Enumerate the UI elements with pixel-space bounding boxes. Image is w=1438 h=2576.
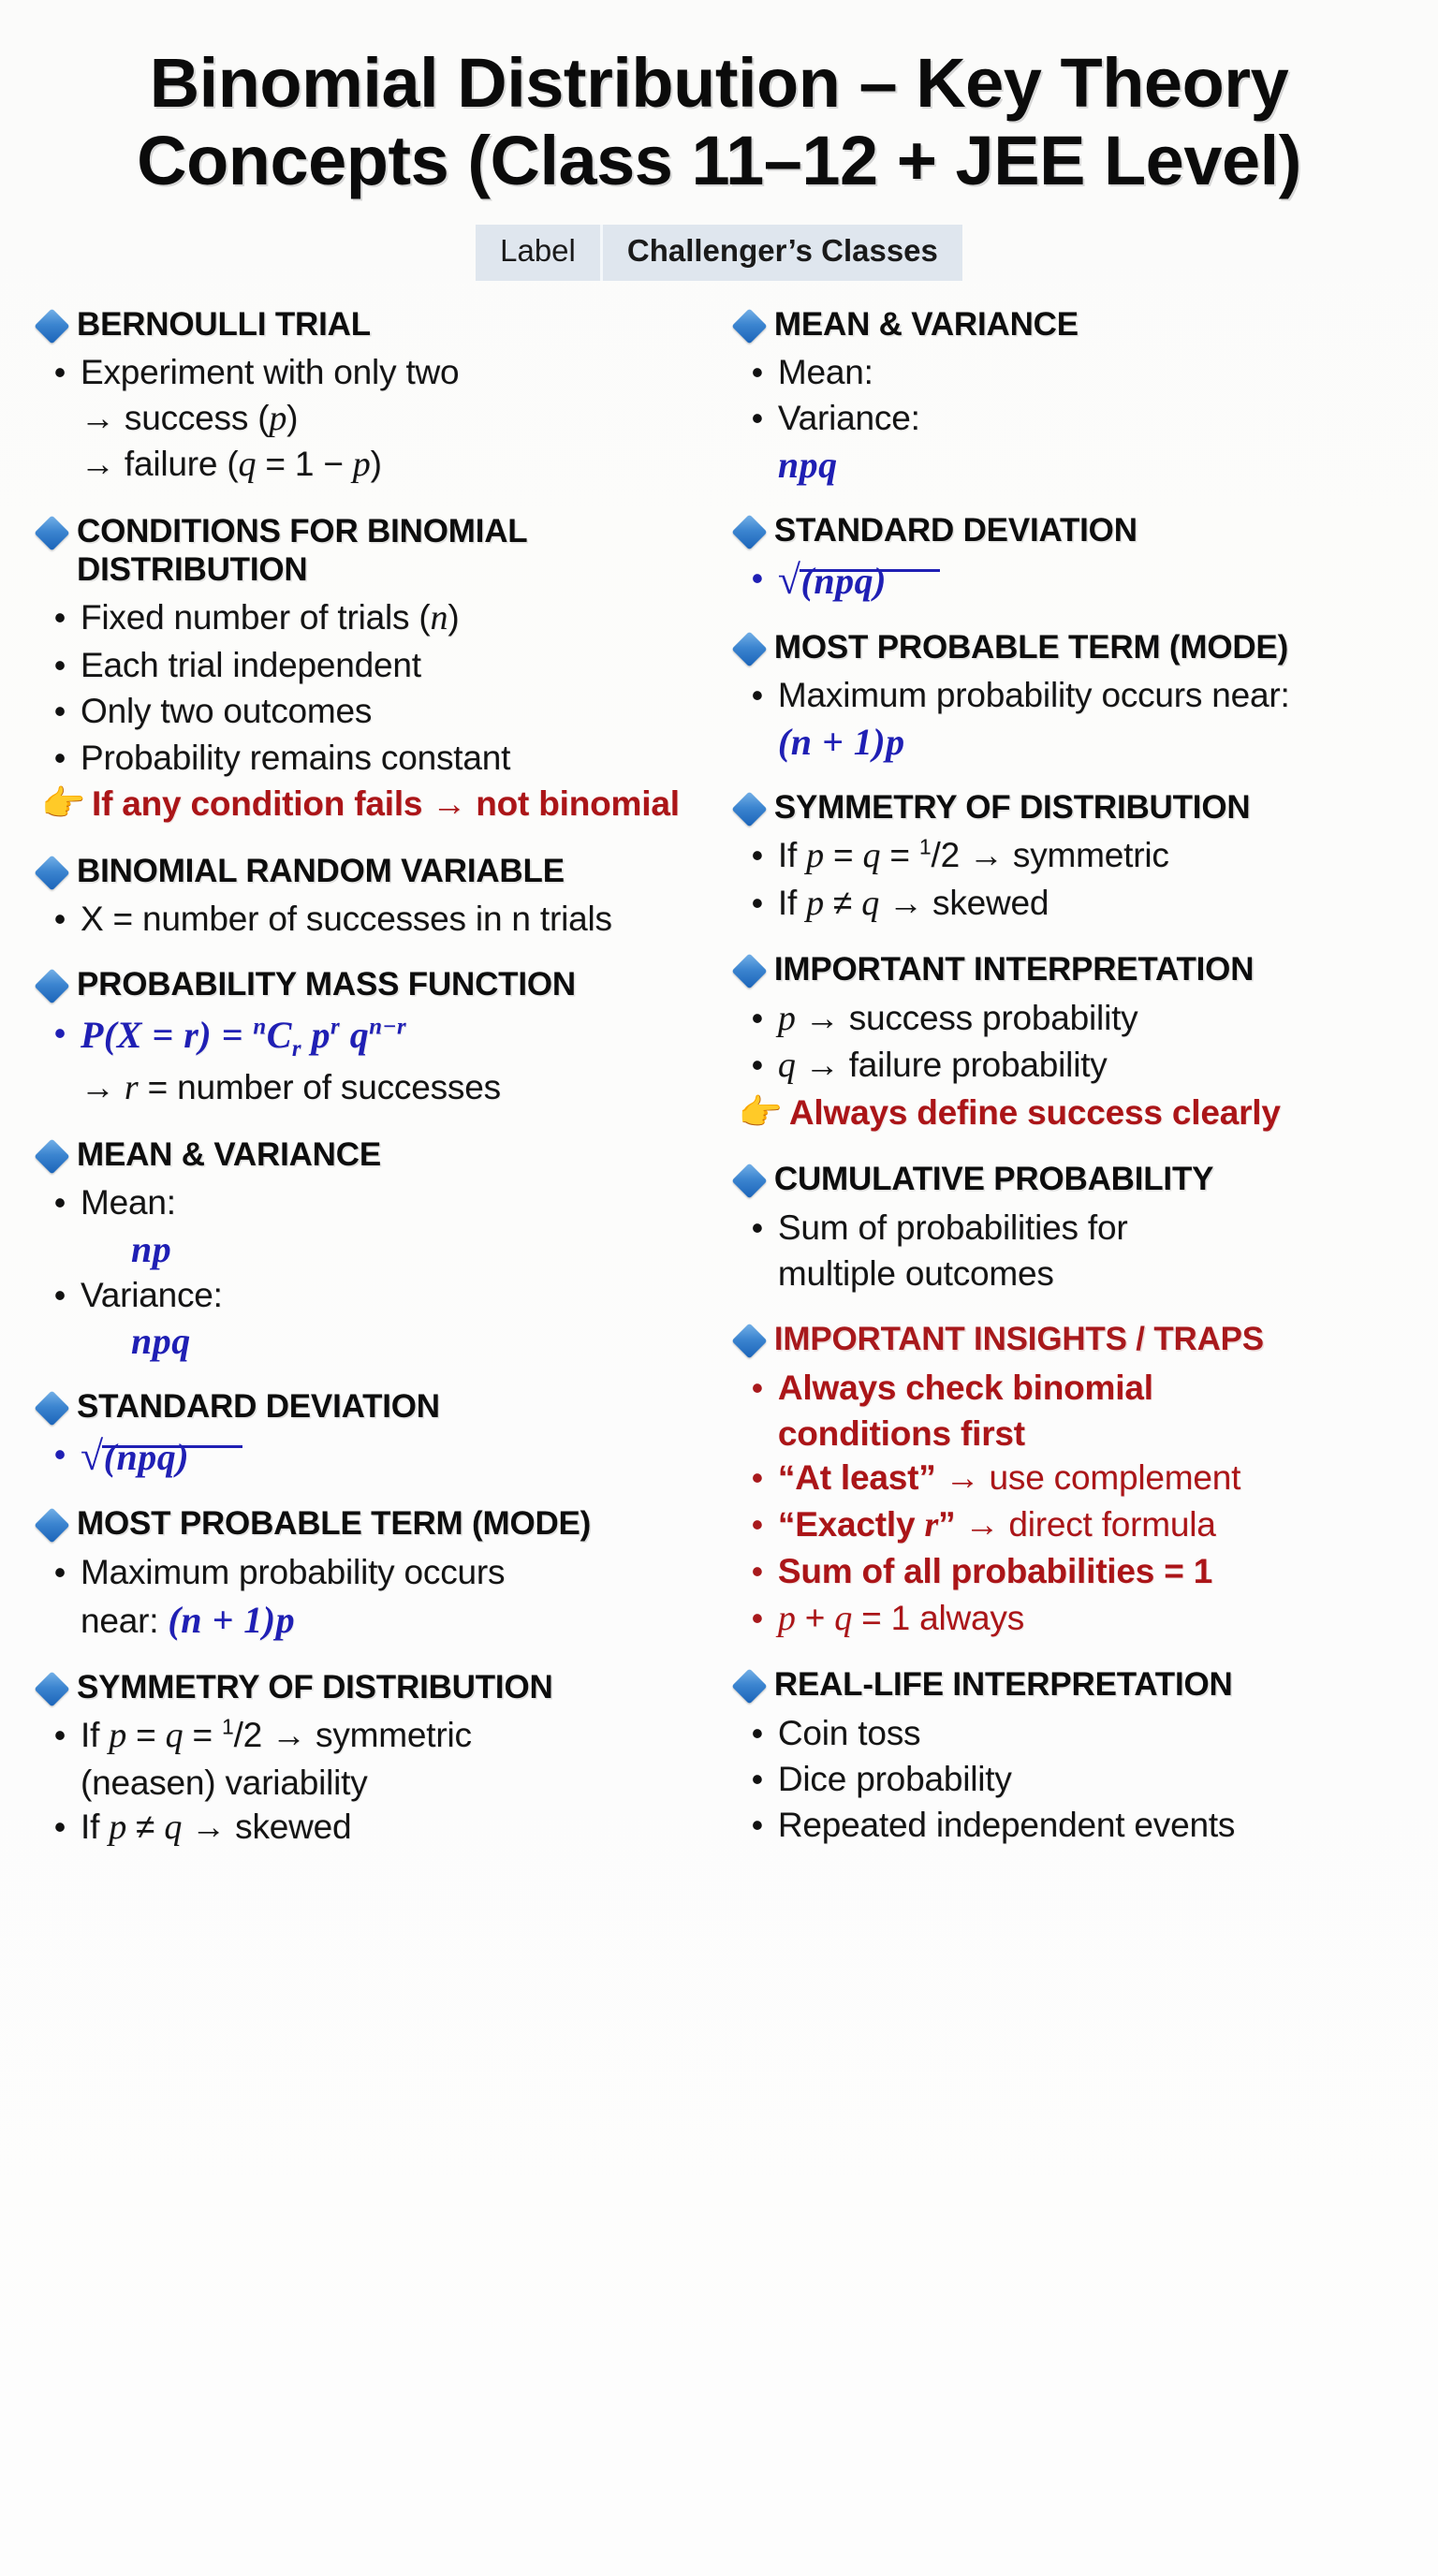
section-header: MOST PROBABLE TERM (MODE) (39, 1504, 711, 1543)
round-bullet-icon: • (39, 1713, 81, 1757)
section-header: MOST PROBABLE TERM (MODE) (737, 628, 1399, 666)
section-probability-mass-function: PROBABILITY MASS FUNCTION • P(X = r) = n… (39, 965, 711, 1111)
section-important-insights-traps: IMPORTANT INSIGHTS / TRAPS • Always chec… (737, 1320, 1399, 1641)
list-item-label: Always check binomial (778, 1366, 1399, 1410)
label-table-cell-label: Label (476, 225, 600, 281)
list-item: • p + q = 1 always (737, 1596, 1399, 1642)
section-header: IMPORTANT INSIGHTS / TRAPS (737, 1320, 1399, 1358)
list-item: • q → failure probability (737, 1043, 1399, 1089)
section-binomial-random-variable: BINOMIAL RANDOM VARIABLE • X = number of… (39, 852, 711, 942)
section-title: IMPORTANT INTERPRETATION (774, 950, 1254, 988)
round-bullet-icon: • (737, 396, 778, 440)
list-item: • If p ≠ q → skewed (39, 1805, 711, 1851)
section-title: SYMMETRY OF DISTRIBUTION (77, 1668, 553, 1706)
blue-diamond-icon (731, 308, 767, 344)
blue-diamond-icon (731, 1669, 767, 1705)
list-item-label: Variance: (81, 1273, 711, 1317)
section-conditions-for-binomial: CONDITIONS FOR BINOMIAL DISTRIBUTION • F… (39, 512, 711, 827)
round-bullet-icon: • (39, 897, 81, 941)
blue-diamond-icon (731, 514, 767, 549)
blue-diamond-icon (731, 1324, 767, 1359)
section-most-probable-term-right: MOST PROBABLE TERM (MODE) • Maximum prob… (737, 628, 1399, 764)
list-item-label: Probability remains constant (81, 736, 711, 780)
round-bullet-icon: • (737, 833, 778, 877)
list-item: • Dice probability (737, 1757, 1399, 1801)
title-line-1: Binomial Distribution – Key Theory (60, 45, 1378, 123)
round-bullet-icon: • (737, 1596, 778, 1640)
section-symmetry-right: SYMMETRY OF DISTRIBUTION • If p = q = 1/… (737, 788, 1399, 927)
right-column: MEAN & VARIANCE • Mean: • Variance: npq … (727, 305, 1399, 1852)
round-bullet-icon: • (737, 1206, 778, 1250)
list-item: • Each trial independent (39, 643, 711, 687)
section-header: STANDARD DEVIATION (39, 1387, 711, 1426)
list-item-label: Maximum probability occurs (81, 1550, 711, 1594)
blue-diamond-icon (731, 631, 767, 666)
section-symmetry-left: SYMMETRY OF DISTRIBUTION • If p = q = 1/… (39, 1668, 711, 1851)
list-item: • Probability remains constant (39, 736, 711, 780)
mode-formula-line: near: (n + 1)p (81, 1596, 711, 1644)
blue-diamond-icon (34, 1138, 69, 1174)
section-title: MEAN & VARIANCE (774, 305, 1078, 344)
list-item: • Experiment with only two (39, 350, 711, 394)
list-item: • Only two outcomes (39, 689, 711, 733)
formula-item: • √(npq) (737, 556, 1399, 604)
blue-diamond-icon (731, 791, 767, 827)
section-title: IMPORTANT INSIGHTS / TRAPS (774, 1320, 1264, 1358)
list-item-sub: conditions first (778, 1412, 1399, 1456)
pointing-finger-icon: 👉 (737, 1090, 789, 1136)
sd-formula: √(npq) (81, 1432, 189, 1480)
round-bullet-icon: • (737, 1757, 778, 1801)
list-item: • Fixed number of trials (n) (39, 595, 711, 641)
round-bullet-icon: • (39, 1273, 81, 1317)
left-column: BERNOULLI TRIAL • Experiment with only t… (39, 305, 711, 1852)
round-bullet-icon: • (737, 1456, 778, 1500)
section-header: MEAN & VARIANCE (737, 305, 1399, 344)
infographic-page: Binomial Distribution – Key Theory Conce… (0, 0, 1438, 2576)
variance-formula: npq (81, 1319, 711, 1363)
round-bullet-icon: • (39, 1011, 81, 1055)
list-item: • Variance: (737, 396, 1399, 440)
section-header: PROBABILITY MASS FUNCTION (39, 965, 711, 1003)
warning-item: 👉 Always define success clearly (737, 1090, 1399, 1136)
list-item-sub: → r = number of successes (81, 1065, 711, 1111)
section-header: BINOMIAL RANDOM VARIABLE (39, 852, 711, 890)
list-item-label: If p = q = 1/2 → symmetric (778, 833, 1399, 879)
list-item: • If p ≠ q → skewed (737, 881, 1399, 927)
section-header: SYMMETRY OF DISTRIBUTION (737, 788, 1399, 827)
section-standard-deviation-left: STANDARD DEVIATION • √(npq) (39, 1387, 711, 1480)
list-item-label: X = number of successes in n trials (81, 897, 711, 941)
section-title: BINOMIAL RANDOM VARIABLE (77, 852, 565, 890)
list-item-label: Fixed number of trials (n) (81, 595, 711, 641)
list-item: • “Exactly r” → direct formula (737, 1502, 1399, 1548)
section-mean-variance-left: MEAN & VARIANCE • Mean: np • Variance: n… (39, 1135, 711, 1363)
list-item: • Repeated independent events (737, 1803, 1399, 1847)
round-bullet-icon: • (737, 1043, 778, 1087)
list-item-label: Each trial independent (81, 643, 711, 687)
list-item: • Maximum probability occurs (39, 1550, 711, 1594)
pmf-formula: P(X = r) = nCr pr qn−r (81, 1011, 711, 1064)
list-item-label: Sum of probabilities for (778, 1206, 1399, 1250)
list-item: • p → success probability (737, 996, 1399, 1042)
round-bullet-icon: • (39, 350, 81, 394)
round-bullet-icon: • (737, 1803, 778, 1847)
round-bullet-icon: • (39, 1805, 81, 1849)
list-item-sub: (neasen) variability (81, 1761, 711, 1805)
section-title: PROBABILITY MASS FUNCTION (77, 965, 576, 1003)
round-bullet-icon: • (39, 1550, 81, 1594)
section-title: MOST PROBABLE TERM (MODE) (77, 1504, 591, 1543)
list-item-label: q → failure probability (778, 1043, 1399, 1089)
section-standard-deviation-right: STANDARD DEVIATION • √(npq) (737, 511, 1399, 604)
section-title: REAL-LIFE INTERPRETATION (774, 1665, 1233, 1704)
list-item: • Always check binomial (737, 1366, 1399, 1410)
round-bullet-icon: • (737, 556, 778, 600)
list-item: • Sum of all probabilities = 1 (737, 1549, 1399, 1593)
list-item-label: Sum of all probabilities = 1 (778, 1549, 1399, 1593)
round-bullet-icon: • (39, 689, 81, 733)
warning-label: If any condition fails → not binomial (92, 782, 711, 826)
blue-diamond-icon (731, 954, 767, 989)
list-item: • Mean: (737, 350, 1399, 394)
list-item-label: Mean: (778, 350, 1399, 394)
section-important-interpretation: IMPORTANT INTERPRETATION • p → success p… (737, 950, 1399, 1135)
round-bullet-icon: • (737, 350, 778, 394)
blue-diamond-icon (34, 1671, 69, 1706)
mode-formula: (n + 1)p (168, 1599, 295, 1641)
round-bullet-icon: • (737, 673, 778, 717)
title-line-2: Concepts (Class 11–12 + JEE Level) (60, 123, 1378, 200)
round-bullet-icon: • (39, 1432, 81, 1476)
list-item-label: Only two outcomes (81, 689, 711, 733)
blue-diamond-icon (34, 1508, 69, 1544)
list-item: • If p = q = 1/2 → symmetric (39, 1713, 711, 1759)
section-title: SYMMETRY OF DISTRIBUTION (774, 788, 1251, 827)
section-title: STANDARD DEVIATION (77, 1387, 440, 1426)
round-bullet-icon: • (737, 1502, 778, 1546)
variance-formula: npq (778, 443, 1399, 487)
section-header: IMPORTANT INTERPRETATION (737, 950, 1399, 988)
round-bullet-icon: • (737, 1711, 778, 1755)
mean-formula: np (81, 1227, 711, 1271)
section-header: CONDITIONS FOR BINOMIAL DISTRIBUTION (39, 512, 711, 590)
mode-formula: (n + 1)p (778, 720, 1399, 764)
section-header: MEAN & VARIANCE (39, 1135, 711, 1174)
list-item: • Mean: (39, 1180, 711, 1224)
blue-diamond-icon (34, 515, 69, 550)
list-item: • Coin toss (737, 1711, 1399, 1755)
list-item-label: If p = q = 1/2 → symmetric (81, 1713, 711, 1759)
list-item-label: If p ≠ q → skewed (81, 1805, 711, 1851)
list-item: • X = number of successes in n trials (39, 897, 711, 941)
section-title: CUMULATIVE PROBABILITY (774, 1160, 1213, 1198)
section-title: MOST PROBABLE TERM (MODE) (774, 628, 1288, 666)
list-item-label: “Exactly r” → direct formula (778, 1502, 1399, 1548)
section-title: STANDARD DEVIATION (774, 511, 1137, 549)
pointing-finger-icon: 👉 (39, 782, 92, 827)
blue-diamond-icon (731, 1164, 767, 1199)
formula-item: • √(npq) (39, 1432, 711, 1480)
section-bernoulli-trial: BERNOULLI TRIAL • Experiment with only t… (39, 305, 711, 488)
list-item-label: Mean: (81, 1180, 711, 1224)
label-table: Label Challenger’s Classes (476, 225, 962, 281)
list-item: • Maximum probability occurs near: (737, 673, 1399, 717)
round-bullet-icon: • (737, 996, 778, 1040)
list-item-label: p + q = 1 always (778, 1596, 1399, 1642)
section-title: MEAN & VARIANCE (77, 1135, 381, 1174)
list-item-label: If p ≠ q → skewed (778, 881, 1399, 927)
list-item-label: Variance: (778, 396, 1399, 440)
list-item-sub: → failure (q = 1 − p) (81, 442, 711, 488)
round-bullet-icon: • (737, 1366, 778, 1410)
section-real-life-interpretation: REAL-LIFE INTERPRETATION • Coin toss • D… (737, 1665, 1399, 1847)
section-title: CONDITIONS FOR BINOMIAL DISTRIBUTION (77, 512, 711, 590)
round-bullet-icon: • (737, 881, 778, 925)
round-bullet-icon: • (39, 1180, 81, 1224)
page-title: Binomial Distribution – Key Theory Conce… (22, 26, 1416, 204)
list-item: • Variance: (39, 1273, 711, 1317)
list-item-label: Dice probability (778, 1757, 1399, 1801)
section-most-probable-term-left: MOST PROBABLE TERM (MODE) • Maximum prob… (39, 1504, 711, 1644)
warning-item: 👉 If any condition fails → not binomial (39, 782, 711, 827)
formula-item: • P(X = r) = nCr pr qn−r (39, 1011, 711, 1064)
section-header: STANDARD DEVIATION (737, 511, 1399, 549)
sd-formula: √(npq) (778, 556, 887, 604)
list-item-label: p → success probability (778, 996, 1399, 1042)
section-mean-variance-right: MEAN & VARIANCE • Mean: • Variance: npq (737, 305, 1399, 487)
list-item: • Sum of probabilities for (737, 1206, 1399, 1250)
blue-diamond-icon (34, 969, 69, 1004)
label-table-cell-brand: Challenger’s Classes (600, 225, 962, 281)
list-item: • If p = q = 1/2 → symmetric (737, 833, 1399, 879)
warning-label: Always define success clearly (789, 1090, 1399, 1134)
list-item-sub: → success (p) (81, 396, 711, 442)
round-bullet-icon: • (39, 736, 81, 780)
section-title: BERNOULLI TRIAL (77, 305, 371, 344)
section-header: SYMMETRY OF DISTRIBUTION (39, 1668, 711, 1706)
blue-diamond-icon (34, 855, 69, 890)
list-item-label: Repeated independent events (778, 1803, 1399, 1847)
list-item-label: Experiment with only two (81, 350, 711, 394)
list-item-label: “At least” → use complement (778, 1456, 1399, 1500)
label-table-wrapper: Label Challenger’s Classes (22, 225, 1416, 281)
content-columns: BERNOULLI TRIAL • Experiment with only t… (22, 305, 1416, 1852)
blue-diamond-icon (34, 1390, 69, 1426)
list-item-label: Coin toss (778, 1711, 1399, 1755)
round-bullet-icon: • (39, 643, 81, 687)
list-item-sub: multiple outcomes (778, 1251, 1399, 1295)
section-header: CUMULATIVE PROBABILITY (737, 1160, 1399, 1198)
section-header: REAL-LIFE INTERPRETATION (737, 1665, 1399, 1704)
section-cumulative-probability: CUMULATIVE PROBABILITY • Sum of probabil… (737, 1160, 1399, 1295)
round-bullet-icon: • (737, 1549, 778, 1593)
list-item: • “At least” → use complement (737, 1456, 1399, 1500)
round-bullet-icon: • (39, 595, 81, 639)
blue-diamond-icon (34, 308, 69, 344)
section-header: BERNOULLI TRIAL (39, 305, 711, 344)
list-item-label: Maximum probability occurs near: (778, 673, 1399, 717)
